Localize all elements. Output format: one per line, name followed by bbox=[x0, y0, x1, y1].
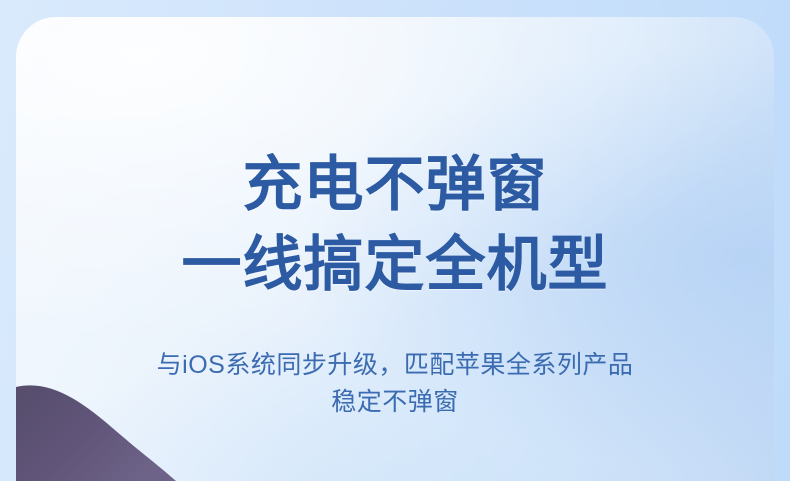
page-title: 充电不弹窗 一线搞定全机型 bbox=[182, 17, 609, 305]
copy-block: 充电不弹窗 一线搞定全机型 与iOS系统同步升级，匹配苹果全系列产品 稳定不弹窗 bbox=[16, 17, 774, 481]
promo-card: 充电不弹窗 一线搞定全机型 与iOS系统同步升级，匹配苹果全系列产品 稳定不弹窗 bbox=[16, 17, 774, 481]
subtitle-line-1: 与iOS系统同步升级，匹配苹果全系列产品 bbox=[157, 347, 634, 385]
page-subtitle: 与iOS系统同步升级，匹配苹果全系列产品 稳定不弹窗 bbox=[157, 305, 634, 422]
headline-line-1: 充电不弹窗 bbox=[182, 145, 609, 225]
promo-banner: 充电不弹窗 一线搞定全机型 与iOS系统同步升级，匹配苹果全系列产品 稳定不弹窗 bbox=[0, 0, 790, 481]
headline-line-2: 一线搞定全机型 bbox=[182, 225, 609, 305]
subtitle-line-2: 稳定不弹窗 bbox=[157, 384, 634, 422]
